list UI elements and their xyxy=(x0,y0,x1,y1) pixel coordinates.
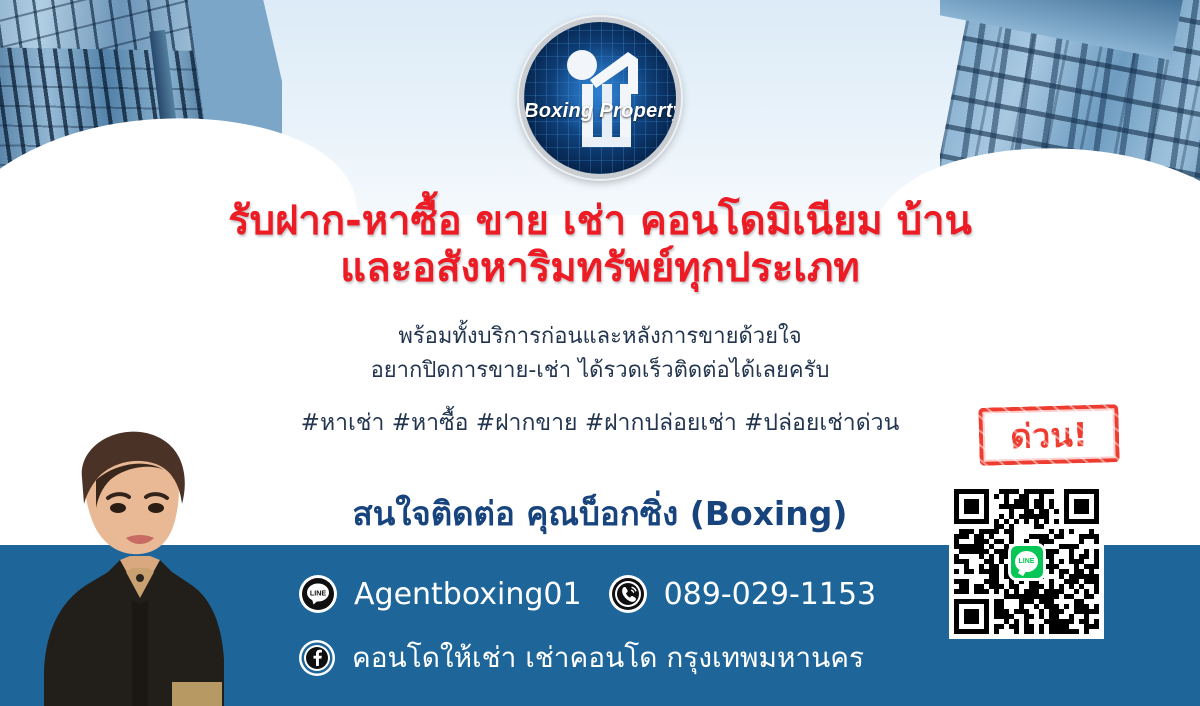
line-id-value: Agentboxing01 xyxy=(354,577,582,612)
line-qr-code[interactable]: LINE xyxy=(949,484,1104,639)
boxing-property-logo[interactable]: Boxing Property xyxy=(519,17,681,179)
headline-line-2: และอสังหาริมทรัพย์ทุกประเภท xyxy=(0,245,1200,292)
line-and-phone-row: LINE Agentboxing01 089-029-1153 xyxy=(298,574,876,614)
headline: รับฝาก-หาซื้อ ขาย เช่า คอนโดมิเนียม บ้าน… xyxy=(0,198,1200,292)
phone-number-value: 089-029-1153 xyxy=(664,577,877,612)
subtext: พร้อมทั้งบริการก่อนและหลังการขายด้วยใจ อ… xyxy=(0,320,1200,388)
subtext-line-2: อยากปิดการขาย-เช่า ได้รวดเร็วติดต่อได้เล… xyxy=(0,354,1200,388)
qr-line-badge-label: LINE xyxy=(1015,551,1038,572)
urgent-stamp: ด่วน! xyxy=(978,404,1119,466)
line-icon[interactable]: LINE xyxy=(298,574,338,614)
advertisement-banner: Boxing Property รับฝาก-หาซื้อ ขาย เช่า ค… xyxy=(0,0,1200,706)
facebook-row: คอนโดให้เช่า เช่าคอนโด กรุงเทพมหานคร xyxy=(298,636,864,680)
facebook-page-value: คอนโดให้เช่า เช่าคอนโด กรุงเทพมหานคร xyxy=(352,636,864,680)
logo-wordmark: Boxing Property xyxy=(524,100,676,123)
phone-icon[interactable] xyxy=(608,574,648,614)
svg-text:LINE: LINE xyxy=(310,589,327,598)
logo-figure-icon xyxy=(524,22,676,174)
urgent-stamp-label: ด่วน! xyxy=(1010,417,1088,452)
facebook-icon[interactable] xyxy=(298,639,336,677)
subtext-line-1: พร้อมทั้งบริการก่อนและหลังการขายด้วยใจ xyxy=(0,320,1200,354)
qr-line-badge: LINE xyxy=(1008,543,1046,581)
agent-portrait-photo xyxy=(22,420,257,706)
headline-line-1: รับฝาก-หาซื้อ ขาย เช่า คอนโดมิเนียม บ้าน xyxy=(0,198,1200,245)
